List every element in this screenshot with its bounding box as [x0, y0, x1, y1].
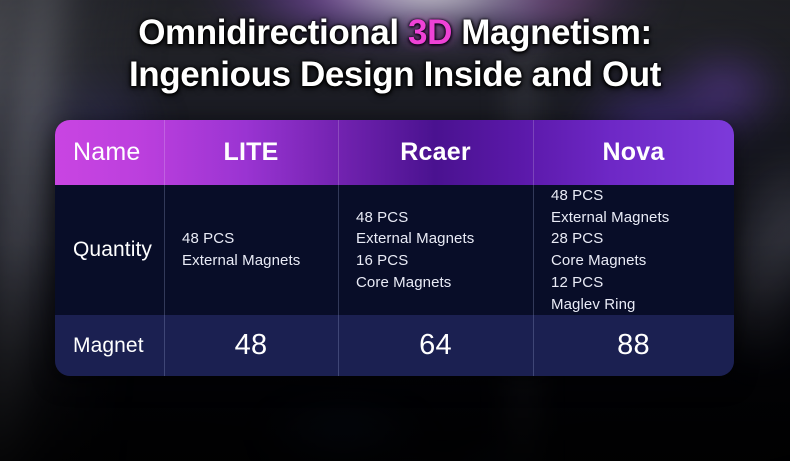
spec-line-0: 48 PCS — [356, 207, 474, 229]
table-row-magnet: Magnet 48 64 88 — [55, 315, 734, 376]
spec-line-2: 16 PCS — [356, 250, 474, 272]
page-title-line-1: Omnidirectional 3D Magnetism: — [0, 12, 790, 54]
spec-line-1: External Magnets — [182, 250, 300, 272]
table-row-magnet-label: Magnet — [73, 334, 144, 358]
table-row-magnet-label-cell: Magnet — [55, 315, 164, 376]
comparison-table: Name LITE Rcaer Nova Quantity 48 PCSExte… — [55, 120, 734, 376]
page-title-line-1-pre: Omnidirectional — [138, 13, 408, 52]
spec-list-rcaer: 48 PCSExternal Magnets16 PCSCore Magnets — [356, 207, 474, 294]
table-row-magnet-cell-nova: 88 — [533, 315, 734, 376]
table-row-quantity-label-cell: Quantity — [55, 185, 164, 315]
spec-line-2: 28 PCS — [551, 228, 669, 250]
spec-line-3: Core Magnets — [551, 250, 669, 272]
spec-line-1: External Magnets — [356, 228, 474, 250]
table-row-magnet-cell-rcaer: 64 — [338, 315, 533, 376]
spec-line-0: 48 PCS — [182, 228, 300, 250]
table-header-row: Name LITE Rcaer Nova — [55, 120, 734, 185]
magnet-count-lite: 48 — [182, 329, 338, 362]
page-title-line-2: Ingenious Design Inside and Out — [0, 54, 790, 96]
table-header-label-rcaer: Rcaer — [356, 138, 533, 167]
table-header-cell-name: Name — [55, 120, 164, 185]
spec-list-lite: 48 PCSExternal Magnets — [182, 228, 300, 272]
table-header-label-lite: LITE — [182, 138, 338, 167]
table-header-cell-rcaer: Rcaer — [338, 120, 533, 185]
spec-list-nova: 48 PCSExternal Magnets28 PCSCore Magnets… — [551, 185, 669, 316]
page-title-accent-3d: 3D — [408, 13, 452, 52]
magnet-count-nova: 88 — [551, 329, 734, 362]
table-row-quantity-cell-lite: 48 PCSExternal Magnets — [164, 185, 338, 315]
table-row-quantity-label: Quantity — [73, 238, 152, 262]
table-header-cell-lite: LITE — [164, 120, 338, 185]
spec-line-5: Maglev Ring — [551, 294, 669, 316]
table-header-cell-nova: Nova — [533, 120, 734, 185]
table-header-label-nova: Nova — [551, 138, 734, 167]
spec-line-3: Core Magnets — [356, 272, 474, 294]
spec-line-1: External Magnets — [551, 207, 669, 229]
page-title: Omnidirectional 3D Magnetism: Ingenious … — [0, 12, 790, 96]
table-header-label-name: Name — [73, 138, 141, 167]
table-row-quantity: Quantity 48 PCSExternal Magnets 48 PCSEx… — [55, 185, 734, 315]
page-title-line-1-post: Magnetism: — [452, 13, 652, 52]
spec-line-0: 48 PCS — [551, 185, 669, 207]
magnet-count-rcaer: 64 — [356, 329, 533, 362]
table-row-quantity-cell-rcaer: 48 PCSExternal Magnets16 PCSCore Magnets — [338, 185, 533, 315]
spec-line-4: 12 PCS — [551, 272, 669, 294]
table-row-magnet-cell-lite: 48 — [164, 315, 338, 376]
table-row-quantity-cell-nova: 48 PCSExternal Magnets28 PCSCore Magnets… — [533, 185, 734, 315]
